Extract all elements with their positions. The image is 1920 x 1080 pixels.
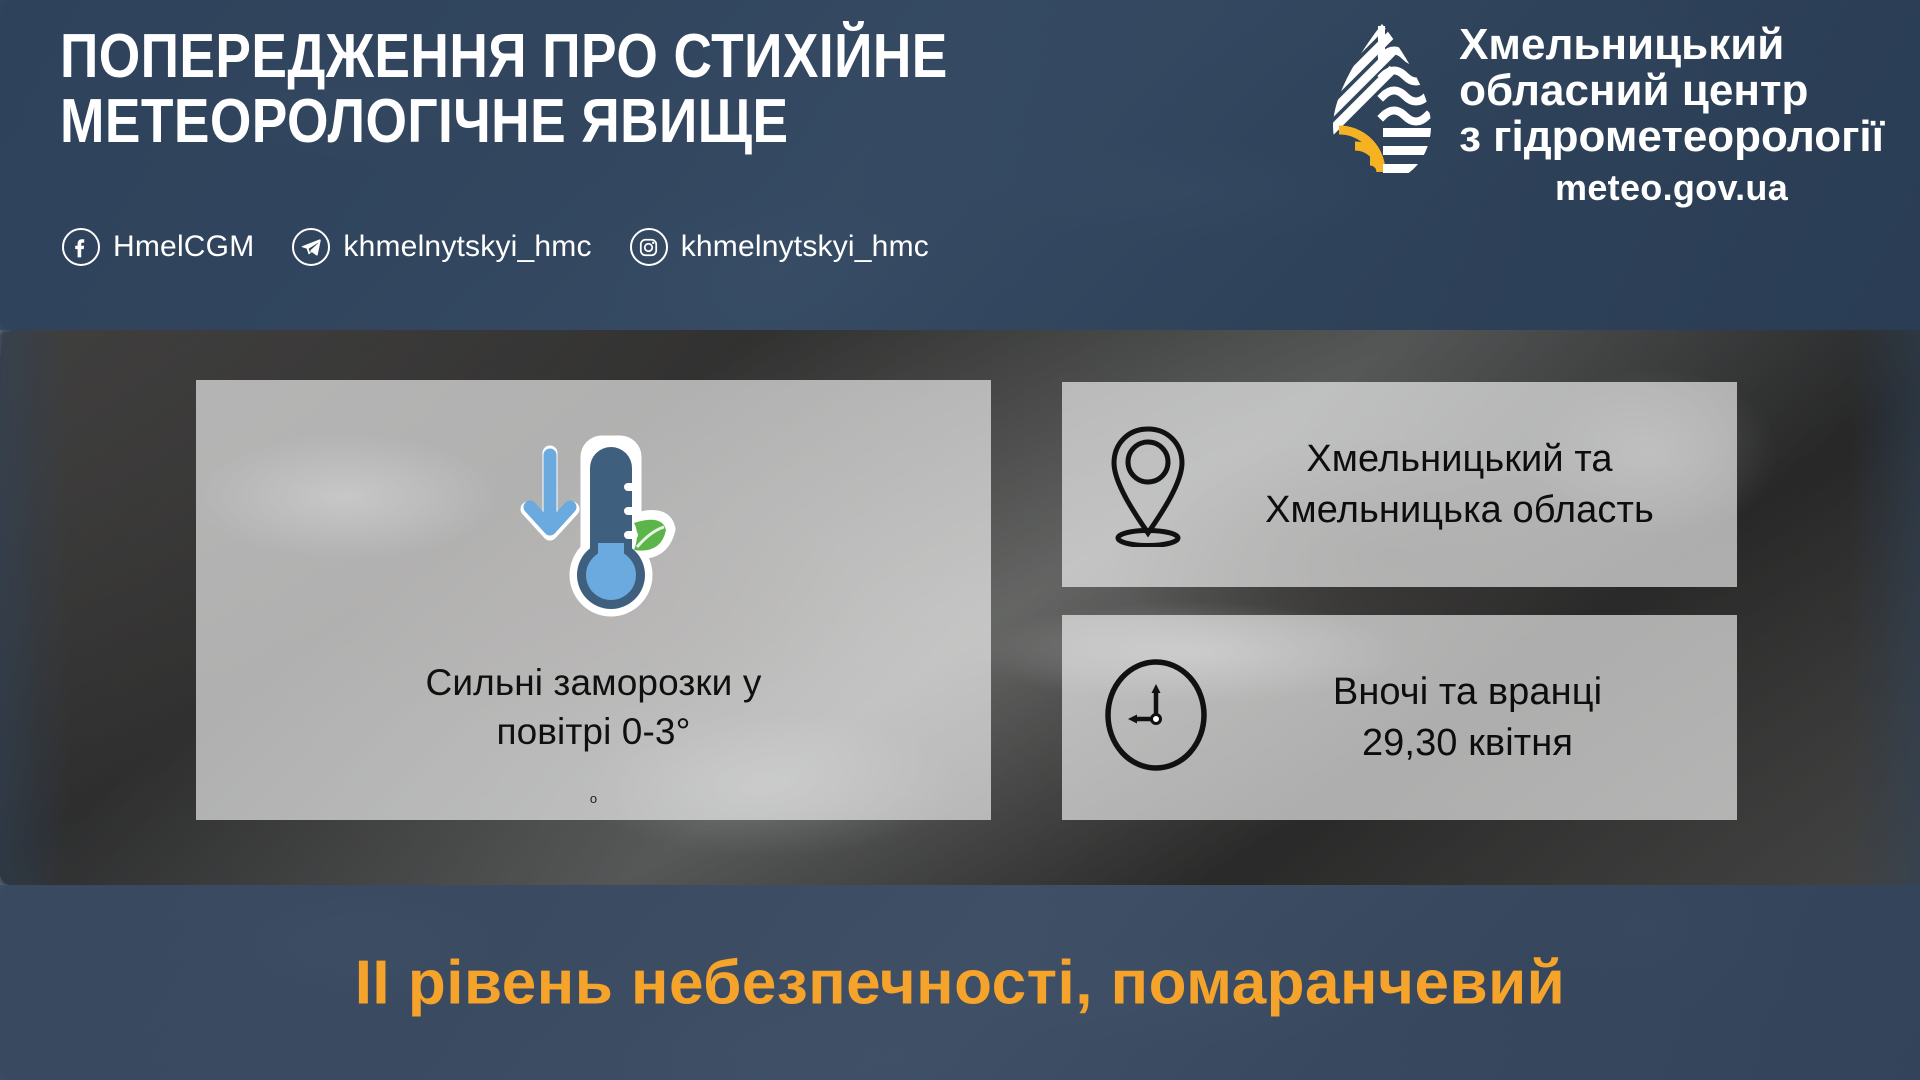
hydrometeorology-droplet-logo-icon [1323,22,1441,182]
phenomenon-text-line-2: повітрі 0-3° [426,708,762,757]
time-text-line-1: Вночі та вранці [1212,667,1723,718]
time-text: Вночі та вранці 29,30 квітня [1212,667,1737,768]
poster-footer: II рівень небезпечності, помаранчевий [0,885,1920,1080]
region-text-line-2: Хмельницька область [1196,485,1723,536]
band-edge-left [0,330,70,885]
region-text-line-1: Хмельницький та [1196,434,1723,485]
page-title-line-1: ПОПЕРЕДЖЕННЯ ПРО СТИХІЙНЕ [60,24,948,89]
page-title-line-2: МЕТЕОРОЛОГІЧНЕ ЯВИЩЕ [60,89,948,154]
thermometer-down-leaf-icon [506,425,682,625]
facebook-icon [62,228,100,266]
social-link-telegram[interactable]: khmelnytskyi_hmc [292,228,591,266]
weather-warning-poster: ПОПЕРЕДЖЕННЯ ПРО СТИХІЙНЕ МЕТЕОРОЛОГІЧНЕ… [0,0,1920,1080]
phenomenon-card: Сильні заморозки у повітрі 0-3° o [196,380,991,820]
instagram-icon [630,228,668,266]
phenomenon-text-line-1: Сильні заморозки у [426,659,762,708]
degree-artifact: o [590,791,597,806]
danger-level-text: II рівень небезпечності, помаранчевий [0,947,1920,1018]
social-label-facebook: HmelCGM [113,230,254,264]
brand-website-url[interactable]: meteo.gov.ua [1459,167,1884,209]
social-label-instagram: khmelnytskyi_hmc [681,230,929,264]
page-title: ПОПЕРЕДЖЕННЯ ПРО СТИХІЙНЕ МЕТЕОРОЛОГІЧНЕ… [60,24,948,154]
band-edge-right [1850,330,1920,885]
social-link-facebook[interactable]: HmelCGM [62,228,254,266]
social-links-bar: HmelCGM khmelnytskyi_hmc [62,228,967,266]
clock-icon [1100,655,1212,780]
telegram-icon [292,228,330,266]
poster-header: ПОПЕРЕДЖЕННЯ ПРО СТИХІЙНЕ МЕТЕОРОЛОГІЧНЕ… [0,0,1920,330]
social-link-instagram[interactable]: khmelnytskyi_hmc [630,228,929,266]
brand-block: Хмельницький обласний центр з гідрометео… [1323,22,1884,209]
region-text: Хмельницький та Хмельницька область [1196,434,1737,535]
region-card: Хмельницький та Хмельницька область [1062,382,1737,587]
brand-name-line-2: обласний центр [1459,68,1884,114]
time-card: Вночі та вранці 29,30 квітня [1062,615,1737,820]
time-text-line-2: 29,30 квітня [1212,718,1723,769]
social-label-telegram: khmelnytskyi_hmc [343,230,591,264]
phenomenon-text: Сильні заморозки у повітрі 0-3° [426,659,762,757]
brand-name-line-1: Хмельницький [1459,22,1884,68]
map-pin-icon [1100,417,1196,552]
brand-name-line-3: з гідрометеорології [1459,114,1884,160]
